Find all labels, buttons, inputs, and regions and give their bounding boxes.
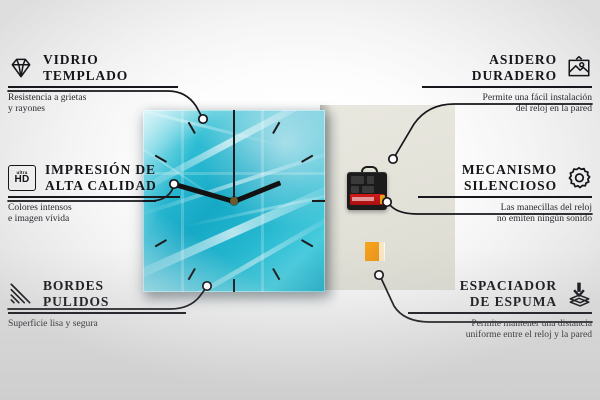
divider: [418, 196, 592, 198]
feature-espaciador-de-espuma[interactable]: ESPACIADOR DE ESPUMA Permite mantener un…: [408, 278, 592, 341]
feature-heading: ASIDERO DURADERO: [422, 52, 592, 83]
wire-dot-espaciador: [375, 271, 383, 279]
feature-title: IMPRESIÓN DE ALTA CALIDAD: [45, 162, 157, 193]
divider: [8, 86, 178, 88]
diamond-icon: [8, 55, 34, 81]
feature-title: MECANISMO SILENCIOSO: [462, 162, 557, 193]
feature-bordes-pulidos[interactable]: BORDES PULIDOS Superficie lisa y segura: [8, 278, 186, 329]
feature-title: VIDRIO TEMPLADO: [43, 52, 128, 83]
feature-impresion-alta-calidad[interactable]: ultra HD IMPRESIÓN DE ALTA CALIDAD Color…: [8, 162, 180, 225]
polished-edges-icon: [8, 281, 34, 307]
divider: [8, 312, 186, 314]
feature-mecanismo-silencioso[interactable]: MECANISMO SILENCIOSO Las manecillas del …: [418, 162, 592, 225]
wire-dot-mecanismo: [383, 198, 391, 206]
feature-asidero-duradero[interactable]: ASIDERO DURADERO Permite una fácil insta…: [422, 52, 592, 115]
foam-spacer-icon: [566, 281, 592, 307]
wire-dot-asidero: [389, 155, 397, 163]
ultra-hd-icon: ultra HD: [8, 165, 36, 191]
feature-vidrio-templado[interactable]: VIDRIO TEMPLADO Resistencia a grietas y …: [8, 52, 178, 115]
divider: [8, 196, 180, 198]
divider: [408, 312, 592, 314]
feature-heading: VIDRIO TEMPLADO: [8, 52, 178, 83]
feature-title: ASIDERO DURADERO: [472, 52, 557, 83]
feature-heading: BORDES PULIDOS: [8, 278, 186, 309]
divider: [422, 86, 592, 88]
picture-hanger-icon: [566, 55, 592, 81]
feature-heading: ultra HD IMPRESIÓN DE ALTA CALIDAD: [8, 162, 180, 193]
wire-dot-vidrio: [199, 115, 207, 123]
feature-heading: MECANISMO SILENCIOSO: [418, 162, 592, 193]
feature-title: ESPACIADOR DE ESPUMA: [460, 278, 557, 309]
feature-heading: ESPACIADOR DE ESPUMA: [408, 278, 592, 309]
wire-dot-bordes: [203, 282, 211, 290]
feature-title: BORDES PULIDOS: [43, 278, 109, 309]
gear-icon: [566, 165, 592, 191]
infographic-canvas: VIDRIO TEMPLADO Resistencia a grietas y …: [0, 0, 600, 400]
